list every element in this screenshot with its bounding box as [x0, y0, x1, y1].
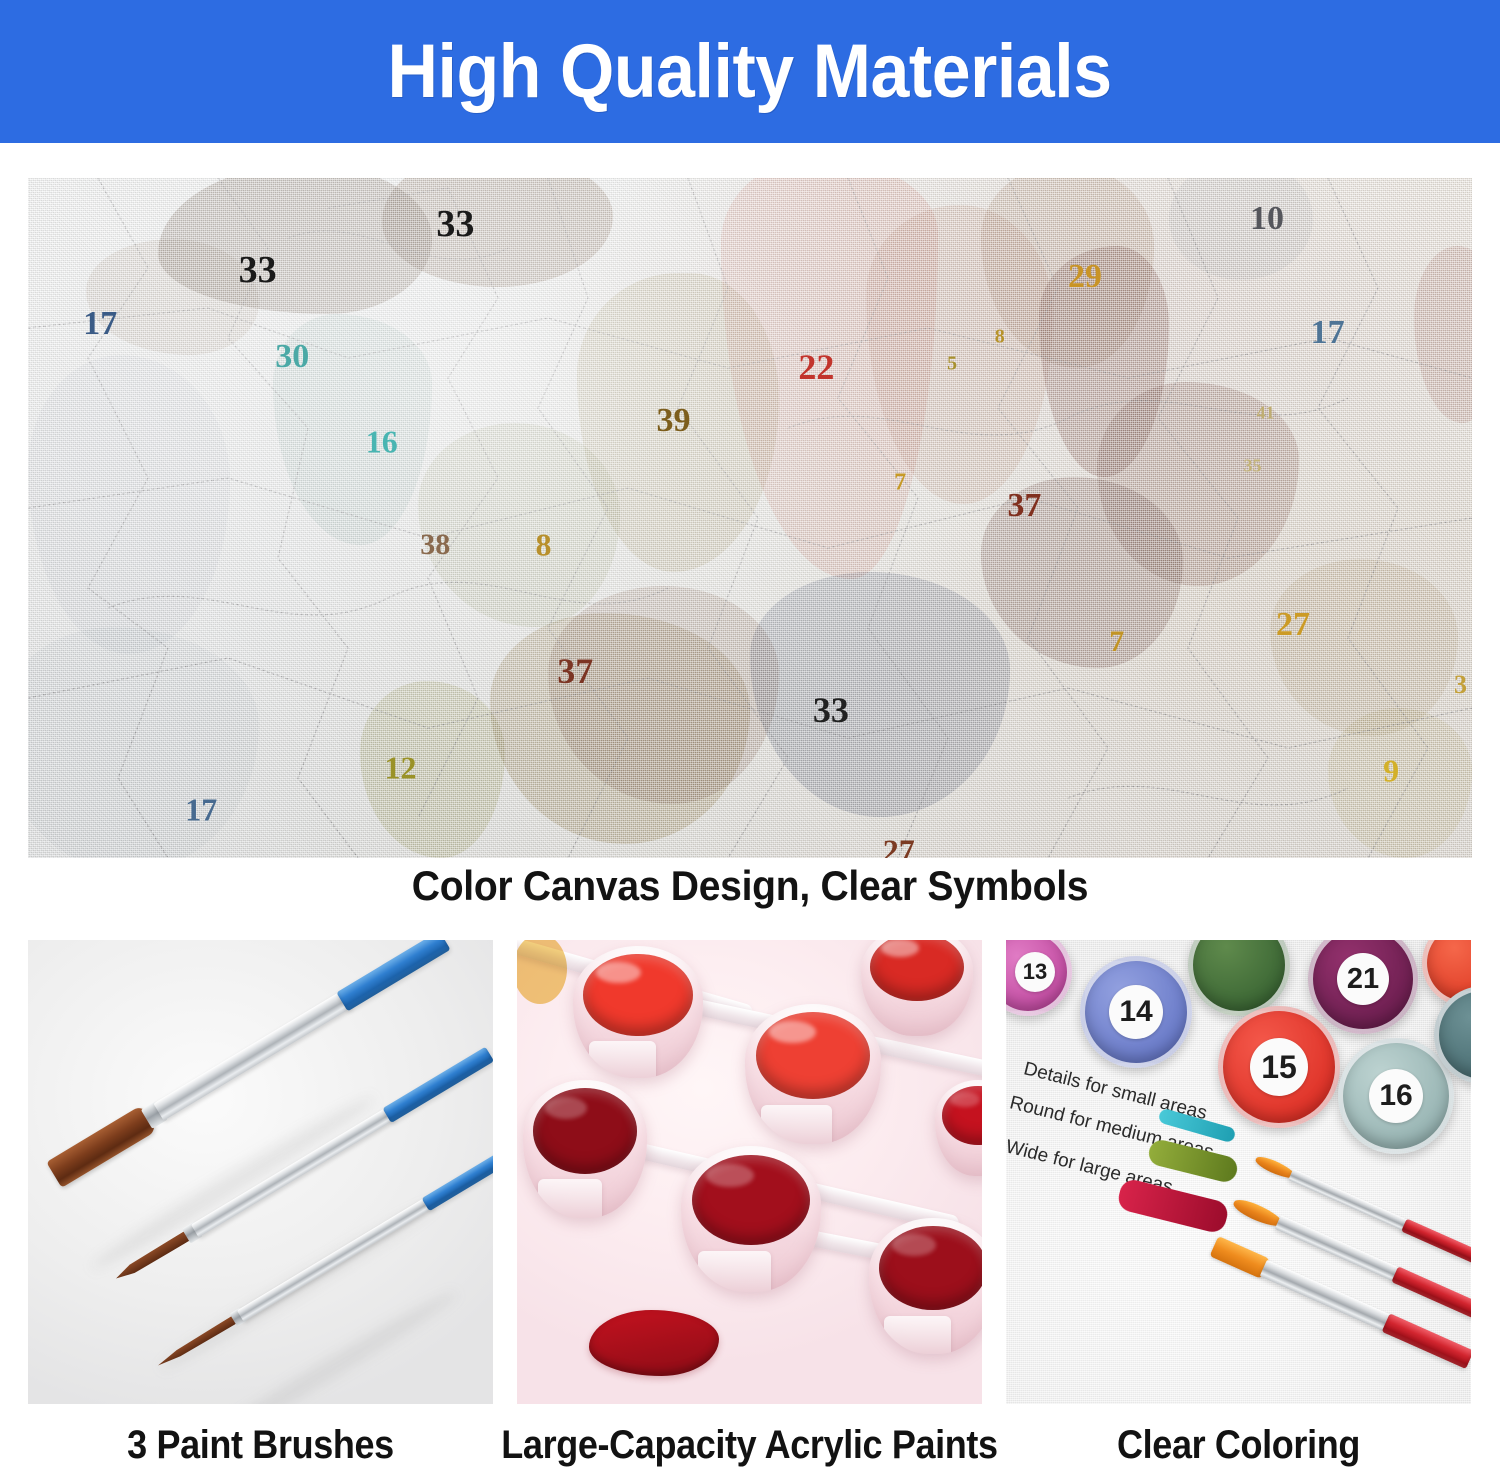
paint-pot [573, 946, 703, 1078]
caption-row: 3 Paint Brushes Large-Capacity Acrylic P… [28, 1416, 1472, 1474]
hero-caption: Color Canvas Design, Clear Symbols [53, 862, 1448, 910]
pot-number-label: 15 [1250, 1038, 1308, 1096]
caption-brushes: 3 Paint Brushes [51, 1416, 470, 1474]
paint-spill [589, 1310, 719, 1376]
feature-row: 13 14 21 15 16 Details for small areas R… [28, 940, 1472, 1404]
paint-pot [681, 1146, 821, 1292]
feature-image-paints [517, 940, 982, 1404]
hero-canvas-image: 1733333016388392275837291017413572793373… [28, 178, 1472, 858]
numbered-paint-pot: 14 [1080, 956, 1192, 1068]
pot-number-label: 13 [1015, 952, 1055, 992]
caption-coloring: Clear Coloring [1029, 1416, 1448, 1474]
pot-number-label: 21 [1337, 953, 1389, 1005]
paint-pot [523, 1080, 647, 1218]
paint-pot [869, 1218, 982, 1354]
numbered-paint-pot: 15 [1218, 1006, 1340, 1128]
pot-number-label: 16 [1369, 1069, 1423, 1123]
page-title: High Quality Materials [388, 28, 1112, 115]
caption-paints: Large-Capacity Acrylic Paints [540, 1416, 959, 1474]
feature-image-coloring: 13 14 21 15 16 Details for small areas R… [1006, 940, 1471, 1404]
feature-image-brushes [28, 940, 493, 1404]
paint-pot [745, 1004, 881, 1144]
numbered-paint-pot: 16 [1338, 1038, 1454, 1154]
header-banner: High Quality Materials [0, 0, 1500, 143]
pot-number-label: 14 [1109, 985, 1163, 1039]
